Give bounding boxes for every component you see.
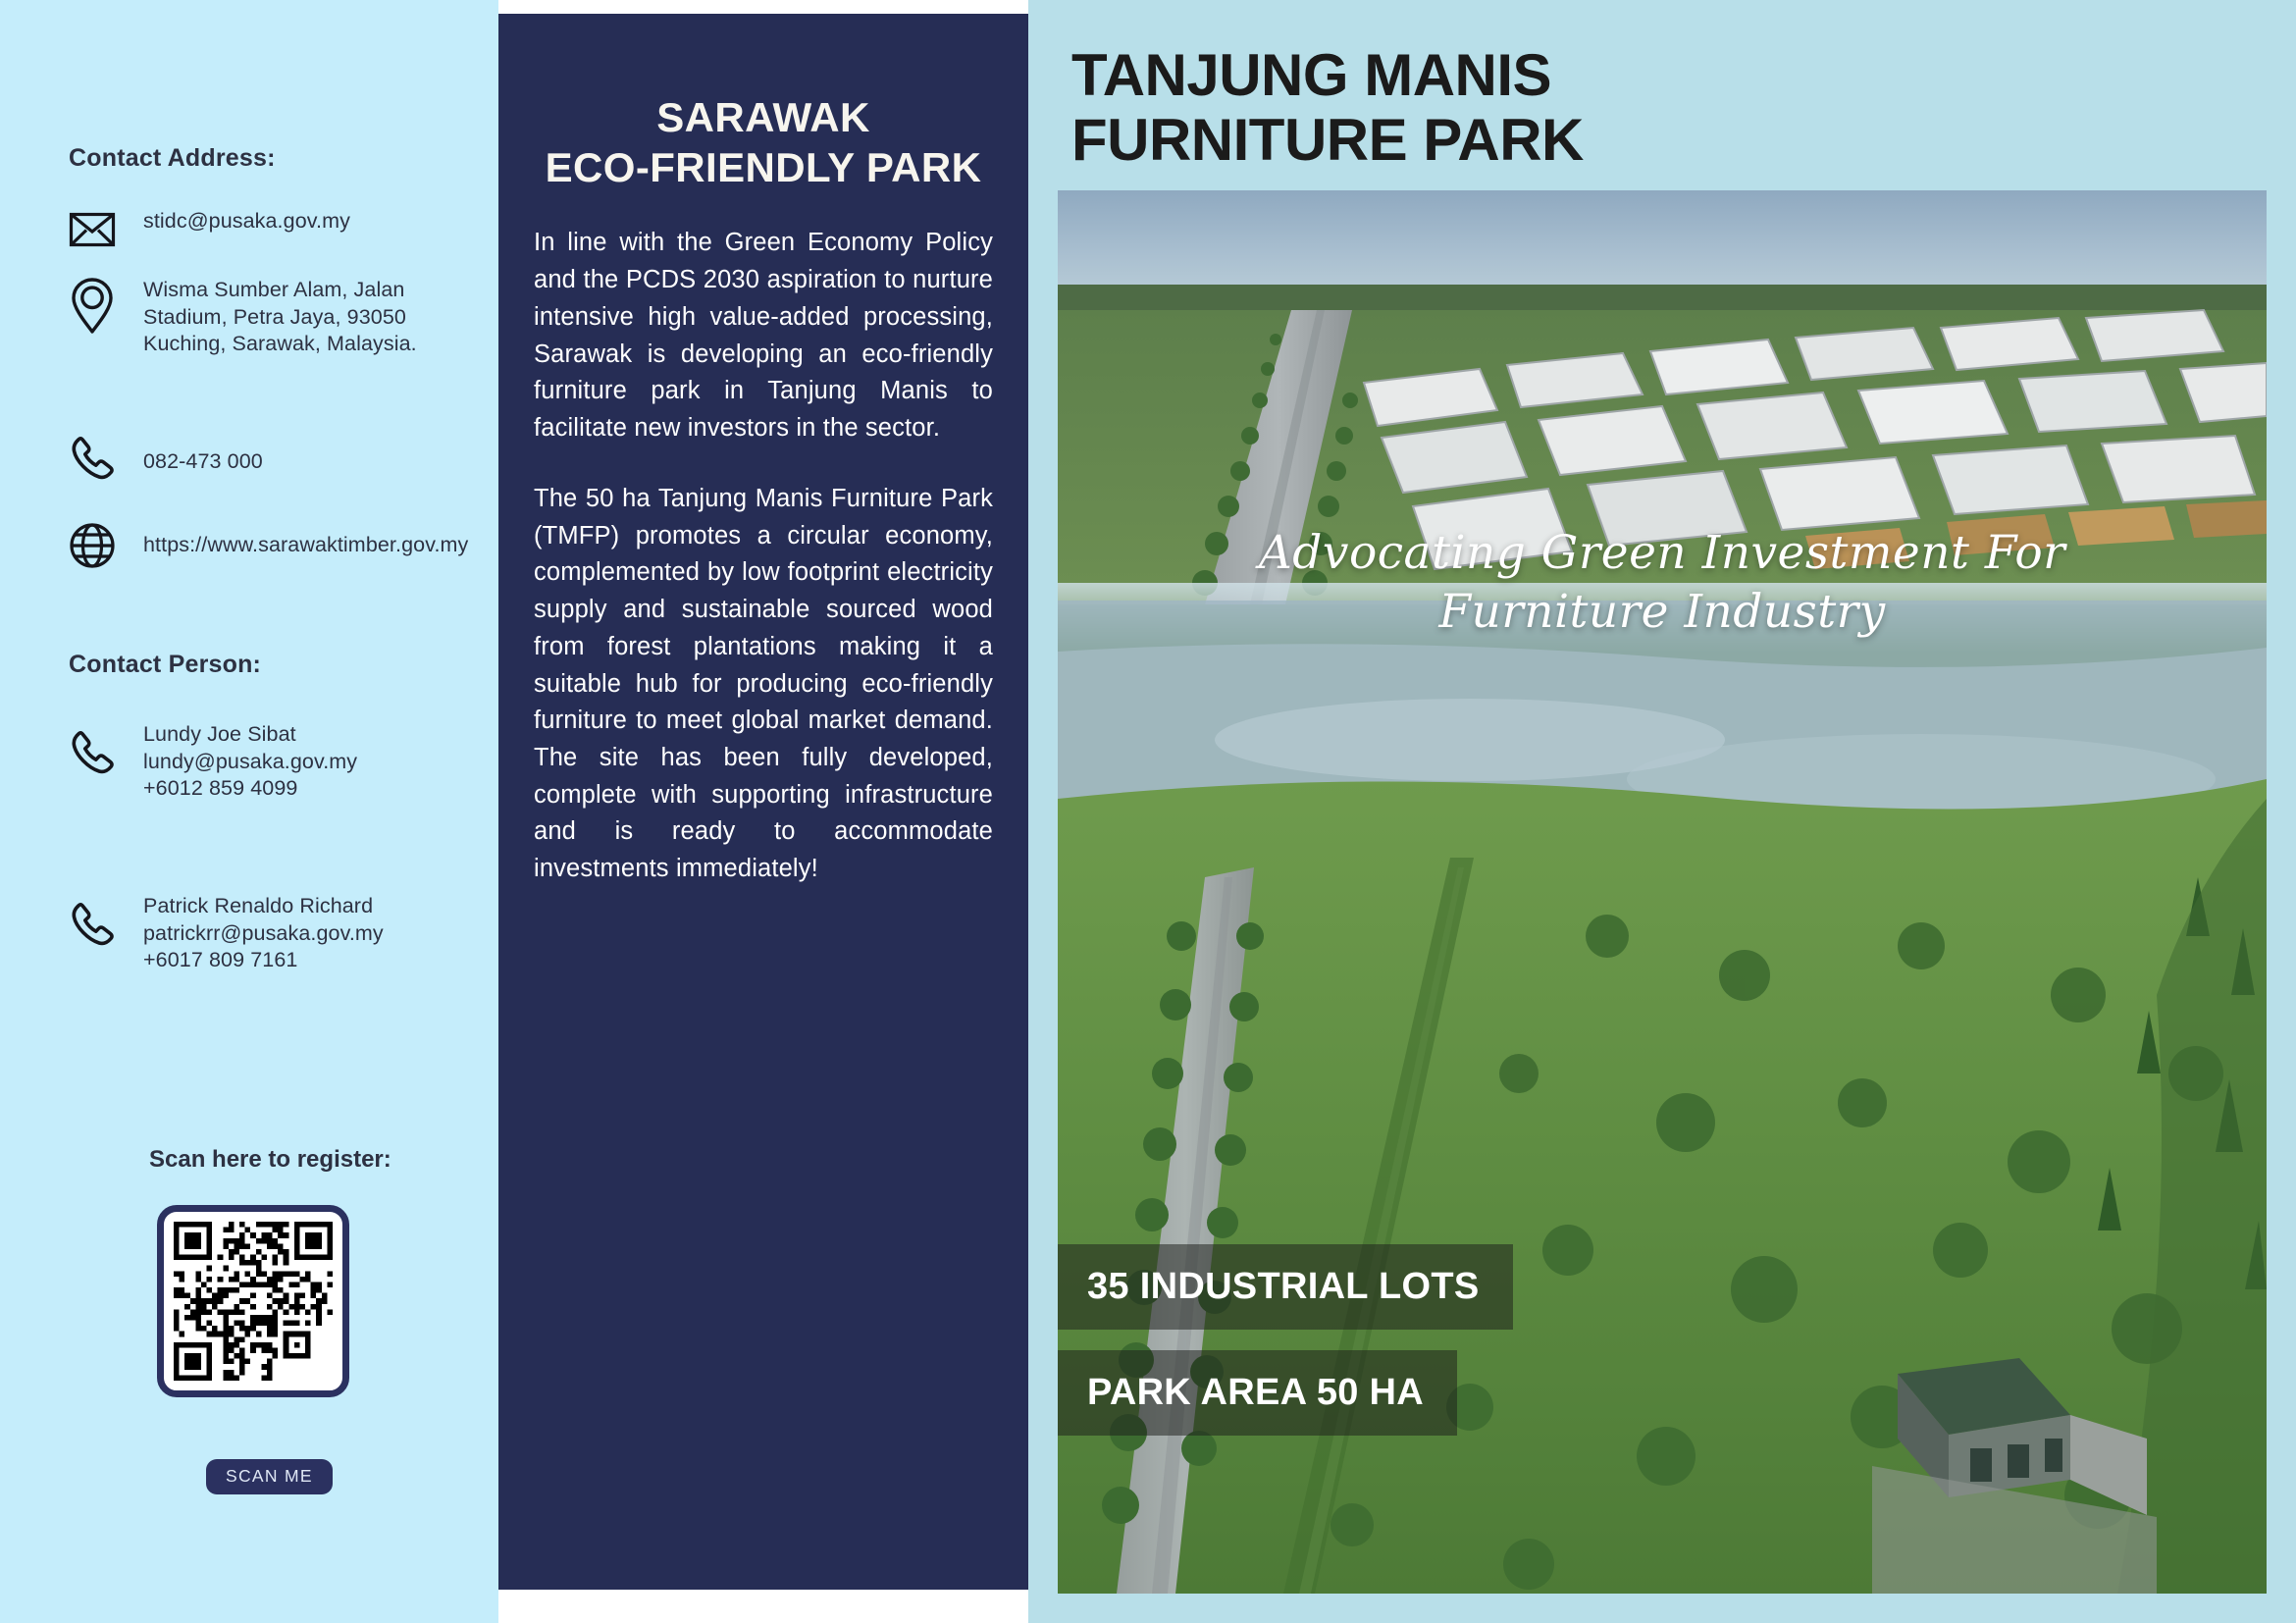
right-title: TANJUNG MANIS FURNITURE PARK xyxy=(1071,43,2296,173)
contact-person-2-details: Patrick Renaldo Richard patrickrr@pusaka… xyxy=(126,893,384,974)
right-cover-panel: TANJUNG MANIS FURNITURE PARK xyxy=(1028,0,2296,1623)
address-line-1: Wisma Sumber Alam, Jalan xyxy=(143,277,444,304)
contact-website-row: https://www.sarawaktimber.gov.my xyxy=(69,520,468,569)
center-paragraph-1: In line with the Green Economy Policy an… xyxy=(534,225,993,446)
contact-address-text: Wisma Sumber Alam, Jalan Stadium, Petra … xyxy=(126,277,444,358)
right-title-line-2: FURNITURE PARK xyxy=(1071,108,2296,173)
person-2-name: Patrick Renaldo Richard xyxy=(143,893,384,920)
person-2-phone: +6017 809 7161 xyxy=(143,947,384,974)
brochure-page: Contact Address: stidc@pusaka.gov.my xyxy=(0,0,2296,1623)
contact-email-row: stidc@pusaka.gov.my xyxy=(69,208,350,247)
person-1-phone: +6012 859 4099 xyxy=(143,775,357,803)
scan-here-heading: Scan here to register: xyxy=(149,1146,391,1174)
scan-me-badge: SCAN ME xyxy=(206,1459,333,1494)
aerial-photo: Advocating Green Investment For Furnitur… xyxy=(1058,190,2267,1594)
address-line-2: Stadium, Petra Jaya, 93050 xyxy=(143,304,444,332)
right-header: TANJUNG MANIS FURNITURE PARK xyxy=(1028,0,2296,190)
industrial-lots-badge: 35 INDUSTRIAL LOTS xyxy=(1058,1244,1513,1330)
contact-person-1-row: Lundy Joe Sibat lundy@pusaka.gov.my +601… xyxy=(69,721,357,803)
contact-person-2-row: Patrick Renaldo Richard patrickrr@pusaka… xyxy=(69,893,384,974)
left-contact-panel: Contact Address: stidc@pusaka.gov.my xyxy=(0,0,498,1623)
globe-icon xyxy=(69,520,126,569)
park-area-badge: PARK AREA 50 HA xyxy=(1058,1350,1457,1436)
center-title: SARAWAK ECO-FRIENDLY PARK xyxy=(534,92,993,192)
person-1-name: Lundy Joe Sibat xyxy=(143,721,357,749)
phone-icon xyxy=(69,893,126,950)
contact-phone-text[interactable]: 082-473 000 xyxy=(126,435,263,476)
right-title-line-1: TANJUNG MANIS xyxy=(1071,42,1551,108)
person-1-email: lundy@pusaka.gov.my xyxy=(143,749,357,776)
contact-phone-row: 082-473 000 xyxy=(69,435,263,484)
phone-icon xyxy=(69,721,126,778)
contact-person-1-details: Lundy Joe Sibat lundy@pusaka.gov.my +601… xyxy=(126,721,357,803)
phone-icon xyxy=(69,435,126,484)
contact-email-text[interactable]: stidc@pusaka.gov.my xyxy=(126,208,350,236)
contact-address-row: Wisma Sumber Alam, Jalan Stadium, Petra … xyxy=(69,277,444,358)
person-2-email: patrickrr@pusaka.gov.my xyxy=(143,920,384,948)
center-description-panel: SARAWAK ECO-FRIENDLY PARK In line with t… xyxy=(498,14,1028,1590)
address-line-3: Kuching, Sarawak, Malaysia. xyxy=(143,331,444,358)
qr-code-image xyxy=(174,1222,333,1381)
center-title-line-1: SARAWAK xyxy=(656,94,869,140)
center-paragraph-2: The 50 ha Tanjung Manis Furniture Park (… xyxy=(534,481,993,888)
qr-code[interactable] xyxy=(157,1205,349,1397)
contact-address-heading: Contact Address: xyxy=(69,144,276,173)
contact-person-heading: Contact Person: xyxy=(69,651,261,679)
contact-website-text[interactable]: https://www.sarawaktimber.gov.my xyxy=(126,520,468,559)
location-pin-icon xyxy=(69,277,126,336)
center-title-line-2: ECO-FRIENDLY PARK xyxy=(534,142,993,192)
envelope-icon xyxy=(69,208,126,247)
